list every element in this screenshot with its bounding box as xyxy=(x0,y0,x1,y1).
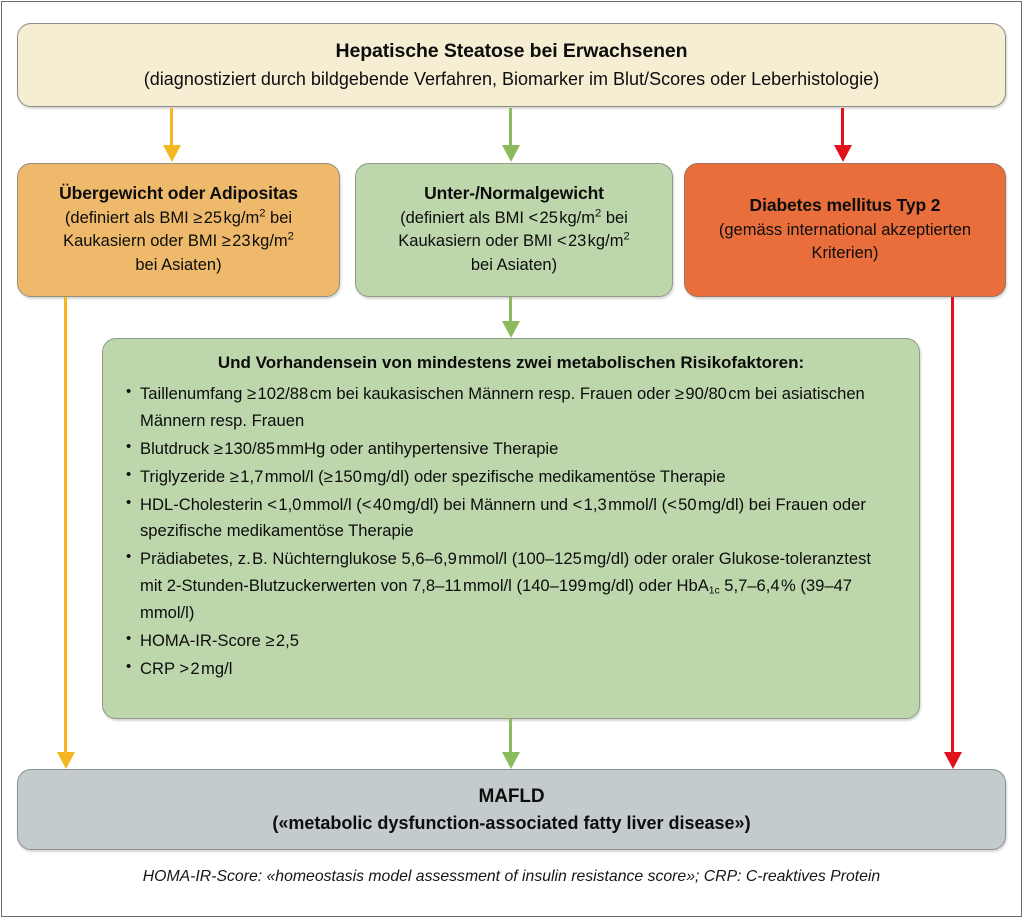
box-hepatic-steatosis: Hepatische Steatose bei Erwachsenen (dia… xyxy=(17,23,1006,107)
risk-factors-heading: Und Vorhandensein von mindestens zwei me… xyxy=(125,353,897,373)
box-diabetes-title: Diabetes mellitus Typ 2 xyxy=(750,195,941,216)
list-item: Prädiabetes, z. B. Nüchternglukose 5,6–6… xyxy=(125,546,897,627)
list-item: HDL-Cholesterin < 1,0 mmol/l (< 40 mg/dl… xyxy=(125,492,897,546)
box-overweight-definition-line1: (definiert als BMI ≥ 25 kg/m2 bei xyxy=(63,207,294,230)
arrowhead-down-icon xyxy=(57,752,75,769)
box-mafld-title: MAFLD xyxy=(479,786,545,808)
box-overweight-obesity: Übergewicht oder Adipositas (definiert a… xyxy=(17,163,340,297)
box-normalweight-definition: (definiert als BMI < 25 kg/m2 bei Kaukas… xyxy=(398,207,629,277)
box-overweight-definition-line2: Kaukasiern oder BMI ≥ 23 kg/m2 xyxy=(63,230,294,253)
arrowhead-down-icon xyxy=(163,145,181,162)
list-item: Taillenumfang ≥ 102/88 cm bei kaukasisch… xyxy=(125,381,897,435)
list-item: HOMA-IR-Score ≥ 2,5 xyxy=(125,628,897,655)
connector-stem xyxy=(64,297,67,752)
connector-stem xyxy=(509,108,512,145)
figure-canvas: Hepatische Steatose bei Erwachsenen (dia… xyxy=(0,0,1024,919)
box-under-normal-weight: Unter-/Normalgewicht (definiert als BMI … xyxy=(355,163,673,297)
connector-normalweight-to-riskfactors xyxy=(509,297,512,338)
box-diabetes-definition-line1: (gemäss international akzeptierten xyxy=(719,219,971,242)
arrowhead-down-icon xyxy=(502,752,520,769)
box-mafld-result: MAFLD («metabolic dysfunction-associated… xyxy=(17,769,1006,850)
connector-stem xyxy=(951,297,954,752)
box-overweight-definition-line3: bei Asiaten) xyxy=(63,254,294,277)
arrowhead-down-icon xyxy=(502,145,520,162)
box-metabolic-risk-factors: Und Vorhandensein von mindestens zwei me… xyxy=(102,338,920,719)
connector-diabetes-to-mafld xyxy=(951,297,954,769)
arrowhead-down-icon xyxy=(944,752,962,769)
box-normalweight-definition-line3: bei Asiaten) xyxy=(398,254,629,277)
figure-footnote: HOMA-IR-Score: «homeostasis model assess… xyxy=(17,868,1006,886)
connector-stem xyxy=(841,108,844,145)
connector-stem xyxy=(170,108,173,145)
box-overweight-definition: (definiert als BMI ≥ 25 kg/m2 bei Kaukas… xyxy=(63,207,294,277)
list-item: Blutdruck ≥ 130/85 mmHg oder antihyperte… xyxy=(125,436,897,463)
list-item: Triglyzeride ≥ 1,7 mmol/l (≥ 150 mg/dl) … xyxy=(125,464,897,491)
connector-overweight-to-mafld xyxy=(64,297,67,769)
box-diabetes-definition-line2: Kriterien) xyxy=(719,242,971,265)
list-item: CRP > 2 mg/l xyxy=(125,656,897,683)
connector-top-to-normalweight xyxy=(509,108,512,162)
connector-stem xyxy=(509,719,512,752)
connector-top-to-overweight xyxy=(170,108,173,162)
connector-top-to-diabetes xyxy=(841,108,844,162)
box-normalweight-definition-line1: (definiert als BMI < 25 kg/m2 bei xyxy=(398,207,629,230)
box-hepatic-steatosis-title: Hepatische Steatose bei Erwachsenen xyxy=(336,40,688,63)
box-normalweight-definition-line2: Kaukasiern oder BMI < 23 kg/m2 xyxy=(398,230,629,253)
connector-stem xyxy=(509,297,512,321)
box-normalweight-title: Unter-/Normalgewicht xyxy=(424,183,604,204)
risk-factors-list: Taillenumfang ≥ 102/88 cm bei kaukasisch… xyxy=(125,381,897,684)
box-diabetes-definition: (gemäss international akzeptierten Krite… xyxy=(719,219,971,266)
arrowhead-down-icon xyxy=(834,145,852,162)
box-diabetes-type2: Diabetes mellitus Typ 2 (gemäss internat… xyxy=(684,163,1006,297)
box-hepatic-steatosis-subtitle: (diagnostiziert durch bildgebende Verfah… xyxy=(144,69,879,90)
box-mafld-subtitle: («metabolic dysfunction-associated fatty… xyxy=(272,813,750,834)
box-overweight-title: Übergewicht oder Adipositas xyxy=(59,183,298,204)
arrowhead-down-icon xyxy=(502,321,520,338)
connector-riskfactors-to-mafld xyxy=(509,719,512,769)
